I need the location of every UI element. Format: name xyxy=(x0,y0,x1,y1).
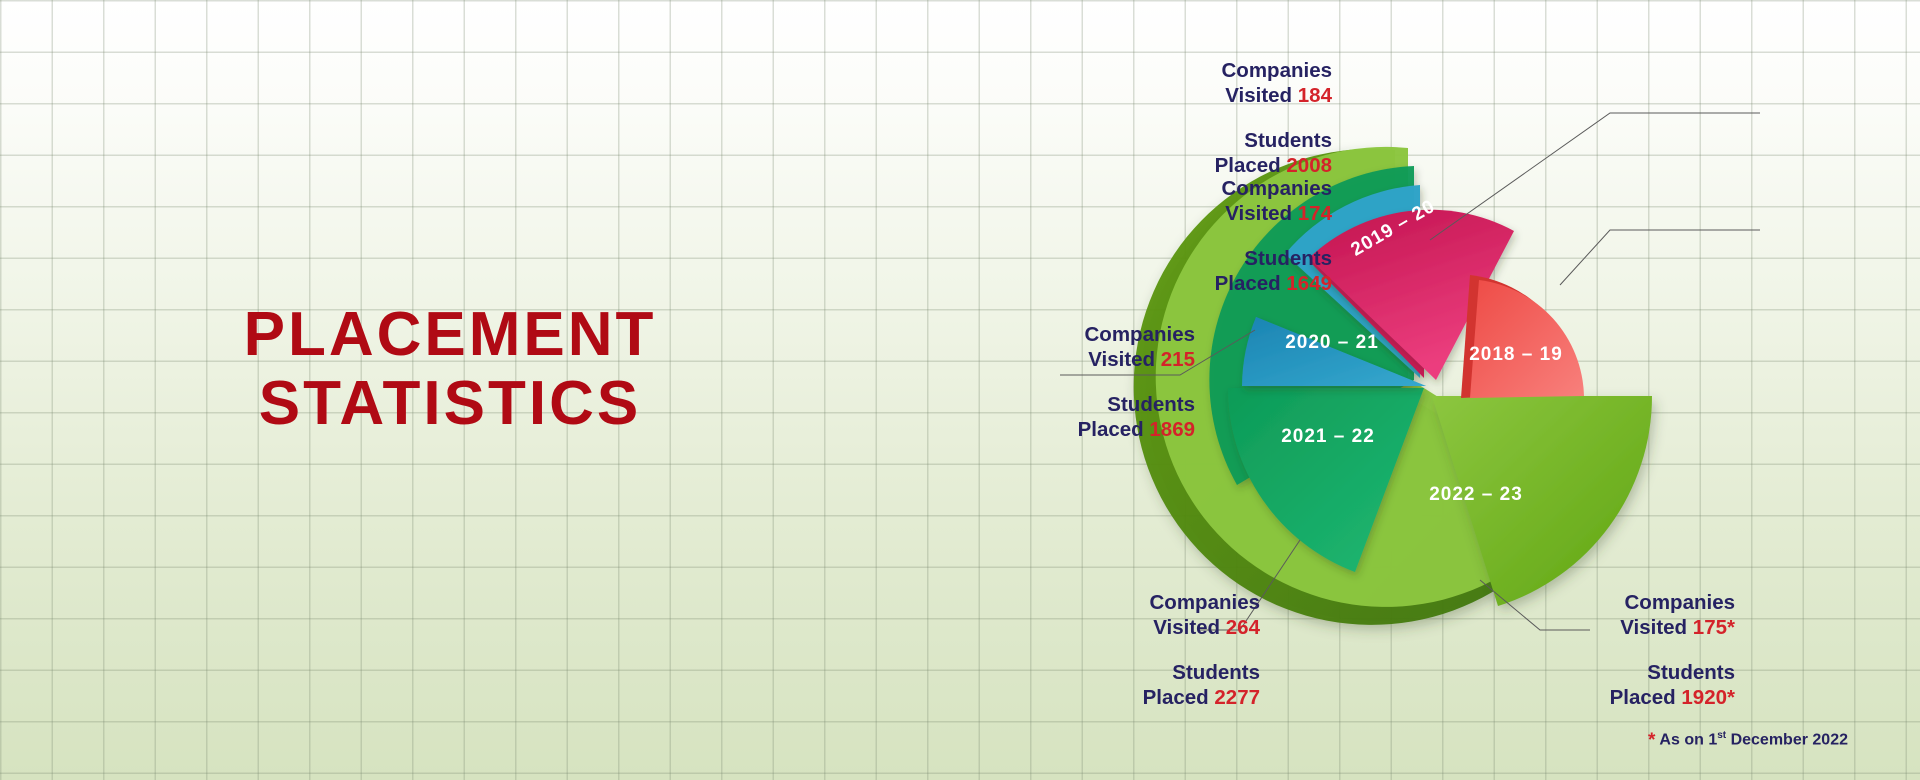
students-value-2018-19: 2008 xyxy=(1286,154,1332,177)
students-label-line1: Students xyxy=(1055,392,1195,417)
students-asterisk-2022-23: * xyxy=(1727,686,1735,709)
companies-value-2022-23: 175 xyxy=(1693,616,1727,639)
companies-value-2021-22: 264 xyxy=(1226,616,1260,639)
callout-2022-23-companies: Companies Visited 175* xyxy=(1590,590,1735,640)
slice-2018-19[interactable] xyxy=(1461,275,1584,398)
callout-2018-19: Companies Visited 184 Students Placed 20… xyxy=(1215,58,1332,178)
companies-label-line2: Visited 215 xyxy=(1055,347,1195,372)
slice-label-2022-23: 2022 – 23 xyxy=(1429,484,1523,505)
students-label-line2: Placed 2277 xyxy=(1115,685,1260,710)
students-value-2020-21: 1869 xyxy=(1149,418,1195,441)
footnote-asterisk: * xyxy=(1648,730,1655,751)
companies-label-line2: Visited 175* xyxy=(1590,615,1735,640)
students-label-line1: Students xyxy=(1215,246,1332,271)
students-label-line1: Students xyxy=(1590,660,1735,685)
companies-value-2020-21: 215 xyxy=(1161,348,1195,371)
students-word: Placed xyxy=(1610,686,1676,709)
companies-label-line2: Visited 264 xyxy=(1115,615,1260,640)
companies-word: Visited xyxy=(1225,84,1292,107)
students-label-line1: Students xyxy=(1115,660,1260,685)
page-title-line-1: PLACEMENT xyxy=(0,300,900,369)
callout-2019-20-students: Students Placed 1649 xyxy=(1215,246,1332,296)
students-word: Placed xyxy=(1215,272,1281,295)
callout-2018-19-students: Students Placed 2008 xyxy=(1215,128,1332,178)
companies-label-line1: Companies xyxy=(1115,590,1260,615)
students-value-2019-20: 1649 xyxy=(1286,272,1332,295)
companies-word: Visited xyxy=(1225,202,1292,225)
slice-label-2020-21: 2020 – 21 xyxy=(1285,332,1379,353)
callout-2021-22-companies: Companies Visited 264 xyxy=(1115,590,1260,640)
footnote-text-before: As on 1 xyxy=(1659,731,1717,748)
companies-label-line1: Companies xyxy=(1215,176,1332,201)
students-label-line2: Placed 1649 xyxy=(1215,271,1332,296)
students-value-2022-23: 1920 xyxy=(1681,686,1727,709)
callout-2020-21: Companies Visited 215 Students Placed 18… xyxy=(1055,322,1195,442)
callout-2022-23: Companies Visited 175* Students Placed 1… xyxy=(1590,590,1735,710)
companies-label-line1: Companies xyxy=(1590,590,1735,615)
callout-2022-23-students: Students Placed 1920* xyxy=(1590,660,1735,710)
students-label-line2: Placed 1920* xyxy=(1590,685,1735,710)
companies-value-2019-20: 174 xyxy=(1298,202,1332,225)
page-title-line-2: STATISTICS xyxy=(0,369,900,438)
callout-2021-22: Companies Visited 264 Students Placed 22… xyxy=(1115,590,1260,710)
companies-word: Visited xyxy=(1620,616,1687,639)
students-label-line2: Placed 2008 xyxy=(1215,153,1332,178)
companies-word: Visited xyxy=(1088,348,1155,371)
callout-2020-21-companies: Companies Visited 215 xyxy=(1055,322,1195,372)
students-word: Placed xyxy=(1078,418,1144,441)
companies-asterisk-2022-23: * xyxy=(1727,616,1735,639)
footnote: *As on 1st December 2022 xyxy=(1648,730,1848,752)
page-title: PLACEMENT STATISTICS xyxy=(0,300,900,439)
footnote-ordinal-suffix: st xyxy=(1717,730,1726,741)
students-label-line2: Placed 1869 xyxy=(1055,417,1195,442)
companies-label-line2: Visited 174 xyxy=(1215,201,1332,226)
companies-label-line1: Companies xyxy=(1055,322,1195,347)
callout-2019-20-companies: Companies Visited 174 xyxy=(1215,176,1332,226)
companies-word: Visited xyxy=(1153,616,1220,639)
students-label-line1: Students xyxy=(1215,128,1332,153)
slice-label-2018-19: 2018 – 19 xyxy=(1469,344,1563,365)
companies-label-line2: Visited 184 xyxy=(1215,83,1332,108)
students-word: Placed xyxy=(1143,686,1209,709)
slice-label-2021-22: 2021 – 22 xyxy=(1281,426,1375,447)
callout-2018-19-companies: Companies Visited 184 xyxy=(1215,58,1332,108)
companies-label-line1: Companies xyxy=(1215,58,1332,83)
companies-value-2018-19: 184 xyxy=(1298,84,1332,107)
students-value-2021-22: 2277 xyxy=(1214,686,1260,709)
callout-2019-20: Companies Visited 174 Students Placed 16… xyxy=(1215,176,1332,296)
students-word: Placed xyxy=(1215,154,1281,177)
callout-2020-21-students: Students Placed 1869 xyxy=(1055,392,1195,442)
callout-2021-22-students: Students Placed 2277 xyxy=(1115,660,1260,710)
footnote-text-after: December 2022 xyxy=(1731,731,1848,748)
